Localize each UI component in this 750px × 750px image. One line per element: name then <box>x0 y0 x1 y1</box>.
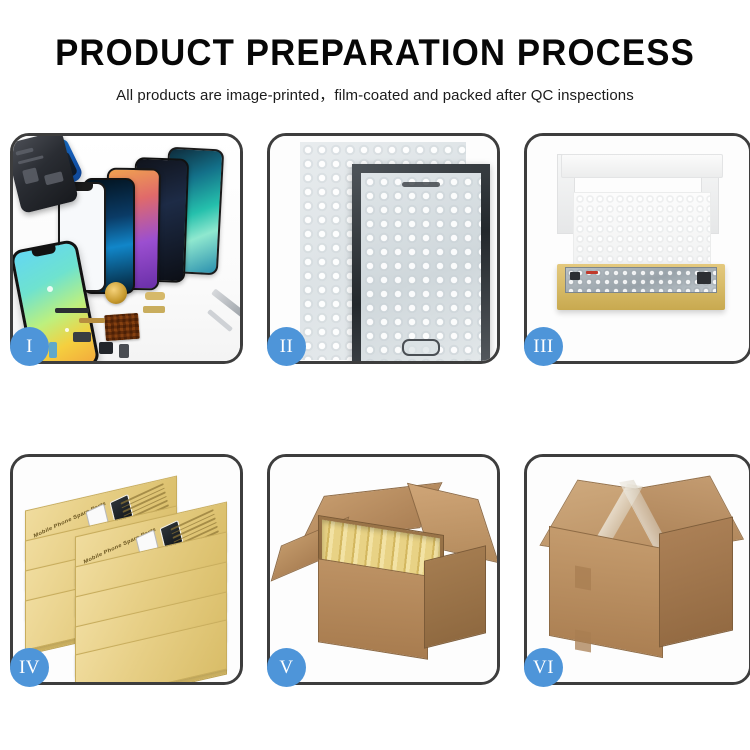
step-badge-2: II <box>267 327 306 366</box>
step-image-3 <box>527 136 749 361</box>
product-preparation-infographic: PRODUCT PREPARATION PROCESS All products… <box>0 0 750 750</box>
flex-cable-icon <box>55 308 89 313</box>
page-title: PRODUCT PREPARATION PROCESS <box>23 34 728 71</box>
earpiece-icon <box>402 182 440 187</box>
carton-seal-top <box>575 565 591 590</box>
red-marker <box>586 271 598 274</box>
carton-front-face <box>549 526 663 658</box>
carton-side-face <box>424 545 486 648</box>
speaker-icon <box>73 332 91 342</box>
step-numeral-3: III <box>533 336 553 358</box>
step-numeral-4: IV <box>19 657 40 679</box>
step-panel-3[interactable]: III <box>524 133 750 364</box>
step-image-2 <box>270 136 497 361</box>
step-badge-5: V <box>267 648 306 687</box>
step-panel-4[interactable]: Mobile Phone Spare Parts <box>10 454 243 685</box>
sim-tray-icon <box>119 344 129 358</box>
step-image-1 <box>13 136 240 361</box>
step-badge-4: IV <box>10 648 49 687</box>
button-flex-icon <box>79 318 105 323</box>
step-numeral-1: I <box>26 336 33 358</box>
step-image-6 <box>527 457 749 682</box>
step-badge-6: VI <box>524 648 563 687</box>
bubble-wrap-sheet <box>300 142 466 360</box>
home-button-icon <box>402 339 440 356</box>
camera-module-icon <box>99 342 113 354</box>
carton-front-face <box>318 558 428 659</box>
step-numeral-2: II <box>280 336 294 358</box>
screw-set-icon <box>49 342 57 358</box>
wrapped-part-in-box <box>565 267 717 293</box>
step-badge-3: III <box>524 327 563 366</box>
sealed-carton <box>541 479 741 669</box>
open-carton <box>278 483 490 673</box>
header: PRODUCT PREPARATION PROCESS All products… <box>0 0 750 105</box>
connector-icon <box>145 292 165 300</box>
vibration-motor-icon <box>105 282 127 304</box>
sparkle-1 <box>47 286 53 292</box>
kraft-box-open <box>557 264 725 310</box>
sparkle-2 <box>65 328 69 332</box>
step-panel-6[interactable]: VI <box>524 454 750 685</box>
step-panel-1[interactable]: I <box>10 133 243 364</box>
wrapped-screen-icon <box>352 164 490 361</box>
step-badge-1: I <box>10 327 49 366</box>
battery-icon <box>143 306 165 313</box>
carton-seal-bottom <box>575 629 591 652</box>
step-panel-5[interactable]: V <box>267 454 500 685</box>
foam-liner <box>573 192 711 268</box>
box-stack: Mobile Phone Spare Parts <box>19 471 239 676</box>
chip-array-icon <box>104 313 140 341</box>
step-image-5 <box>270 457 497 682</box>
page-subtitle: All products are image-printed，film-coat… <box>0 84 750 105</box>
carton-side-face <box>659 516 733 647</box>
step-numeral-5: V <box>279 657 293 679</box>
steps-grid: I II <box>10 133 740 685</box>
step-panel-2[interactable]: II <box>267 133 500 364</box>
box-lid <box>561 154 723 178</box>
step-numeral-6: VI <box>533 657 554 679</box>
step-image-4: Mobile Phone Spare Parts <box>13 457 240 682</box>
